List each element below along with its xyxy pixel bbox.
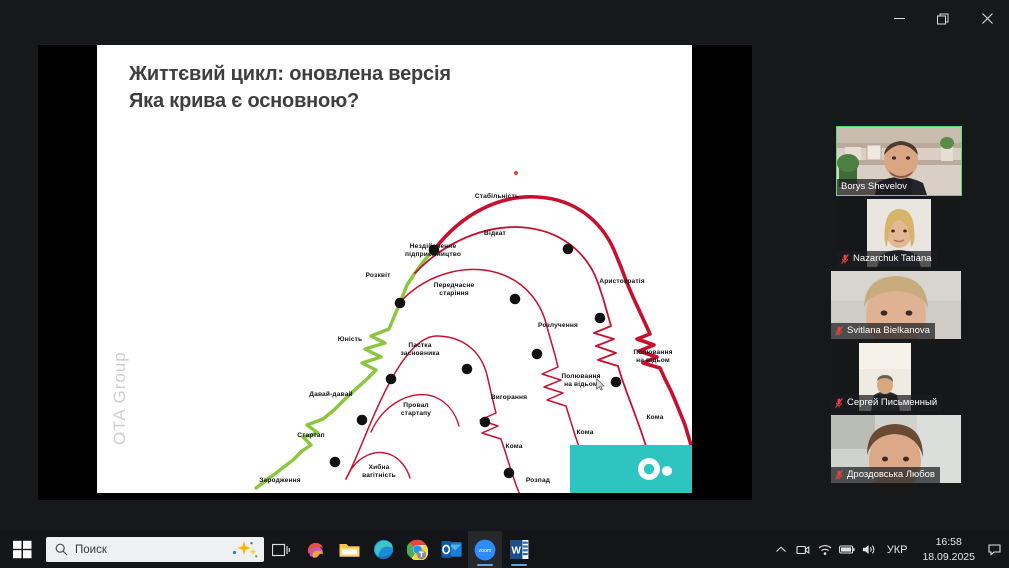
chart-stage-label: Розпад [526,477,550,485]
participant-tile-4[interactable]: Дроздовська Любов [831,415,961,483]
outlook-icon [441,540,462,559]
running-indicator [511,564,527,566]
chart-stage-label: Хибна вагітність [362,464,396,480]
chrome-icon [407,539,428,560]
chart-stage-label: Стартап [297,432,325,440]
language-indicator[interactable]: УКР [880,544,915,556]
file-explorer-button[interactable] [332,531,366,568]
zoom-icon: zoom [474,539,496,561]
minimize-icon [894,13,905,24]
restore-button[interactable] [921,0,965,37]
chart-stage-label: Кома [576,429,593,437]
chart-stage-label: Полювання на відьом [633,349,672,365]
participant-nametag-4: Дроздовська Любов [831,467,940,483]
participant-nametag-2: Svitlana Bielkanova [831,323,935,339]
participant-name-1: Nazarchuk Tatiana [853,253,932,264]
chart-stage-label: Юність [338,336,362,344]
participant-nametag-1: Nazarchuk Tatiana [837,251,937,267]
outlook-button[interactable] [434,531,468,568]
word-button[interactable]: W [502,531,536,568]
mic-muted-icon [835,470,843,480]
mic-muted-icon [835,326,843,336]
copilot-sparkle-icon[interactable] [232,540,258,559]
close-icon [982,13,993,24]
battery-icon [839,544,855,555]
participant-name-3: Сергей Письменный [847,397,937,408]
mic-muted-icon [841,254,849,264]
notifications-button[interactable] [983,531,1005,568]
zoom-button[interactable]: zoom [468,531,502,568]
folder-icon [339,541,360,559]
mouse-cursor [596,378,605,391]
meeting-body: Життєвий цикл: оновлена версія Яка крива… [0,37,1009,531]
chart-stage-label: Розквіт [366,272,391,280]
participant-tile-0[interactable]: Borys Shevelov [837,127,961,195]
chevron-up-icon [775,544,787,556]
zoom-meeting-window: Життєвий цикл: оновлена версія Яка крива… [0,0,1009,568]
windows-logo-icon [13,540,32,559]
clock-date: 18.09.2025 [922,550,975,564]
chart-stage-label: Кома [505,443,522,451]
chart-stage-label: Пастка засновника [400,342,439,358]
camera-tray-icon[interactable] [792,531,814,568]
copilot-icon [305,539,326,560]
volume-icon [862,543,876,556]
participant-tile-2[interactable]: Svitlana Bielkanova [831,271,961,339]
windows-taskbar[interactable]: Поиск [0,531,1009,568]
chart-stage-label: Нездійсненне підприємництво [405,243,461,259]
chart-stage-label: Аристократія [599,278,644,286]
search-icon [55,543,68,556]
clock-time: 16:58 [936,535,962,549]
chart-stage-label: Передчасне старіння [434,282,475,298]
chart-stage-label: Кома [646,414,663,422]
task-view-icon [272,542,290,558]
lifecycle-chart [97,45,692,493]
edge-button[interactable] [366,531,400,568]
word-icon: W [510,539,529,560]
minimize-button[interactable] [877,0,921,37]
participant-name-0: Borys Shevelov [841,181,907,192]
window-titlebar [0,0,1009,37]
system-tray[interactable]: УКР 16:58 18.09.2025 [770,531,1009,568]
svg-text:W: W [511,546,521,557]
participant-nametag-3: Сергей Письменный [831,395,942,411]
chart-stage-label: Відкат [484,230,506,238]
chart-stage-label: Стабільність [475,193,519,201]
participant-name-4: Дроздовська Любов [847,469,935,480]
close-button[interactable] [965,0,1009,37]
screen-share-letterbox: Життєвий цикл: оновлена версія Яка крива… [38,45,752,500]
volume-tray-icon[interactable] [858,531,880,568]
show-hidden-icons-button[interactable] [770,531,792,568]
battery-tray-icon[interactable] [836,531,858,568]
start-button[interactable] [0,531,44,568]
chart-stage-label: Полювання на відьом [561,373,600,389]
running-indicator [477,564,493,566]
participant-tile-3[interactable]: Сергей Письменный [831,343,961,411]
chart-stage-label: Зародження [259,477,301,485]
presentation-slide: Життєвий цикл: оновлена версія Яка крива… [97,45,692,493]
chrome-button[interactable] [400,531,434,568]
taskview-button[interactable] [264,531,298,568]
notification-bubble-icon [988,543,1001,556]
chart-stage-label: Давай-давай [309,391,352,399]
copilot-button[interactable] [298,531,332,568]
edge-icon [373,539,394,560]
participant-tile-1[interactable]: Nazarchuk Tatiana [837,199,961,267]
wifi-icon [818,543,832,556]
chart-stage-label: Розлучення [538,322,578,330]
laser-pointer-dot [514,171,518,175]
search-placeholder: Поиск [75,544,225,556]
participant-nametag-0: Borys Shevelov [837,179,912,195]
mic-muted-icon [835,398,843,408]
restore-icon [937,13,949,25]
camera-icon [796,543,810,557]
search-input[interactable]: Поиск [46,537,264,562]
ota-logo-icon [636,456,674,482]
clock[interactable]: 16:58 18.09.2025 [914,535,983,563]
company-logo-block [570,445,692,493]
chart-stage-label: Провал стартапу [401,402,431,418]
wifi-tray-icon[interactable] [814,531,836,568]
shared-screen-stage[interactable]: Життєвий цикл: оновлена версія Яка крива… [0,45,790,500]
participants-filmstrip[interactable]: Borys Shevelov [793,45,1009,531]
participant-name-2: Svitlana Bielkanova [847,325,930,336]
svg-text:zoom: zoom [479,548,492,554]
chart-stage-label: Вигорання [491,394,527,402]
